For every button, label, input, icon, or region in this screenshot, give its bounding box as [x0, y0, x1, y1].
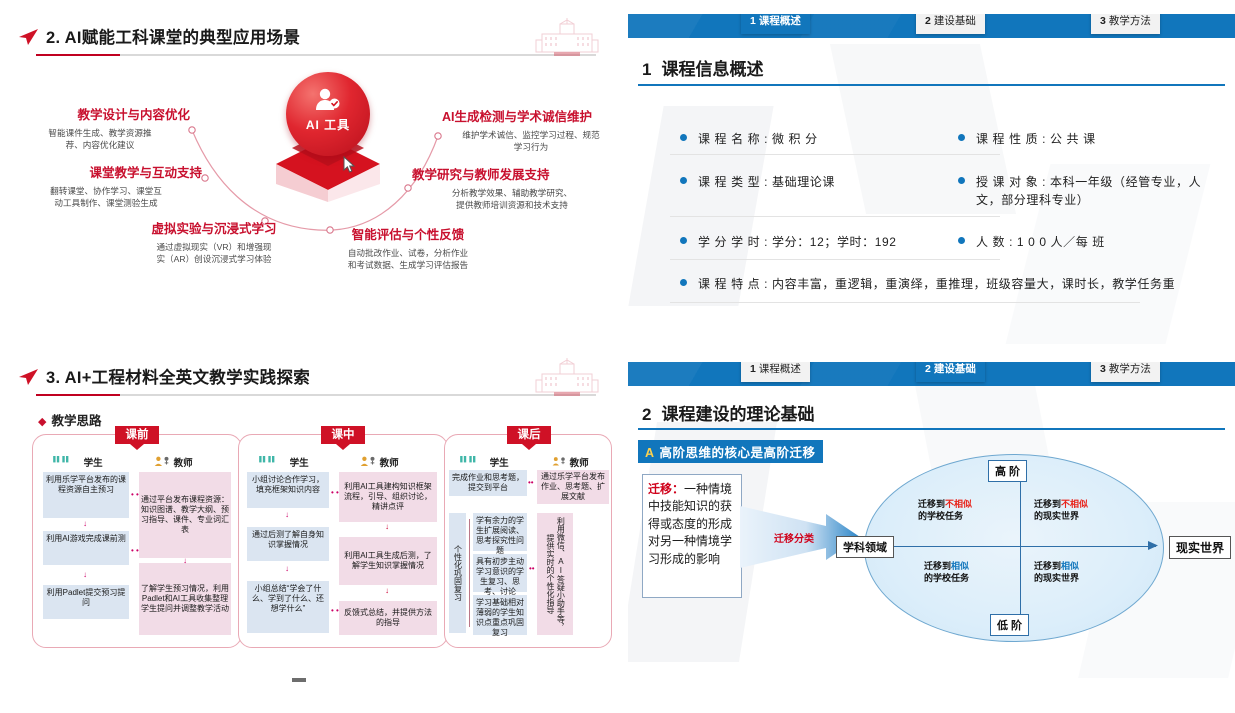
- quadrant-label-1: 迁移到不相似 的学校任务: [918, 498, 972, 522]
- phase-tag-after: 课后: [507, 426, 551, 444]
- info-item-course-name: 课 程 名 称 : 微 积 分: [680, 130, 930, 148]
- scenario-node-2: 课堂教学与互动支持 翻转课堂、协作学习、课堂互 动工具制作、课堂测验生成: [10, 166, 202, 210]
- teacher-box-3-top: 通过乐学平台发布作业、思考题、扩展文献: [537, 470, 609, 504]
- scenario-node-4: 智能评估与个性反馈 自动批改作业、试卷，分析作业 和考试数据、生成学习评估报告: [310, 228, 506, 272]
- nav-tab-3[interactable]: 3教学方法: [1091, 14, 1160, 34]
- phase-tag-before: 课前: [115, 426, 159, 444]
- slide1-header: 2. AI赋能工科课堂的典型应用场景: [18, 24, 608, 58]
- link-dots-icon: • •: [331, 489, 339, 497]
- link-dots-icon: ••: [528, 479, 534, 487]
- teacher-box-1-2: 了解学生预习情况，利用Padlet和AI工具收集整理学生提问并调整教学活动: [139, 563, 231, 635]
- slide3-section-title: 1课程信息概述: [642, 55, 763, 80]
- scenario-node-6: AI生成检测与学术诚信维护 维护学术诚信、监控学习过程、规范 学习行为: [442, 110, 620, 154]
- scenario-node-1-title: 教学设计与内容优化: [10, 108, 190, 124]
- axis-label-high: 高 阶: [988, 460, 1027, 482]
- student-box-3-2: 具有初步主动学习意识的学生复习、思考、讨论: [473, 554, 527, 592]
- student-box-2-1: 小组讨论合作学习，填充框架知识内容: [247, 472, 329, 508]
- horizontal-axis: [894, 546, 1156, 547]
- teacher-box-2-2: 利用AI工具生成后测，了解学生知识掌握情况: [339, 537, 437, 585]
- title-underline: [36, 54, 596, 56]
- ai-tool-pedestal: AI 工具: [268, 72, 388, 202]
- row-separator: [670, 259, 1000, 260]
- down-arrow-icon: ↓: [83, 520, 87, 528]
- bullet-dot-icon: [958, 177, 965, 184]
- teacher-column-header-2: 教师: [359, 455, 399, 469]
- slide-ai-engineering-practice: 3. AI+工程材料全英文教学实践探索: [0, 342, 620, 713]
- scenario-node-6-desc: 维护学术诚信、监控学习过程、规范 学习行为: [442, 129, 620, 154]
- classification-arrow-label: 迁移分类: [774, 530, 814, 545]
- scenario-node-6-title: AI生成检测与学术诚信维护: [442, 110, 620, 126]
- scenario-node-1-desc: 智能课件生成、教学资源推 荐、内容优化建议: [10, 127, 190, 152]
- scenario-node-3-title: 虚拟实验与沉浸式学习: [112, 222, 316, 238]
- scenario-node-2-title: 课堂教学与互动支持: [10, 166, 202, 182]
- student-box-3-1: 学有余力的学生扩展阅读、思考探究性问题: [473, 513, 527, 551]
- axis-label-real-world: 现实世界: [1169, 536, 1231, 559]
- link-dots-icon: ••: [529, 565, 535, 573]
- slide2-title: 3. AI+工程材料全英文教学实践探索: [46, 364, 310, 388]
- down-arrow-icon: ↓: [285, 511, 289, 519]
- scenario-node-1: 教学设计与内容优化 智能课件生成、教学资源推 荐、内容优化建议: [10, 108, 190, 152]
- scenario-node-5-desc: 分析教学效果、辅助教学研究、 提供教师培训资源和技术支持: [412, 187, 612, 212]
- axis-label-discipline: 学科领域: [836, 536, 894, 558]
- bracket-line: [469, 519, 470, 627]
- page-scroll-indicator: [292, 678, 306, 682]
- flag-marker-icon: [18, 28, 40, 46]
- down-arrow-icon: ↓: [385, 523, 389, 531]
- teacher-box-3-1: 利用微信、AI答疑小助手等，提供实时的个性化指导: [537, 513, 573, 635]
- slide1-title: 2. AI赋能工科课堂的典型应用场景: [46, 24, 300, 48]
- axis-arrow-right-icon: [1148, 540, 1160, 552]
- student-column-header-2: 学生: [257, 455, 309, 469]
- info-item-course-nature: 课 程 性 质 : 公 共 课: [958, 130, 1208, 148]
- scenario-fan-diagram: AI 工具 教学设计与内容优化 智能课件生成、教学资源推 荐、内容优化建议 课堂…: [0, 58, 620, 308]
- info-item-class-size: 人 数 : 1 0 0 人／每 班: [958, 233, 1208, 251]
- phase-panel-during-class: 课中 学生 教师 小组讨论合作学习，填充框架知识内容 通过后测了解自身知识掌握情…: [238, 434, 448, 648]
- slide4-section-title: 2课程建设的理论基础: [642, 400, 814, 425]
- student-box-1-1: 利用乐学平台发布的课程资源自主预习: [43, 472, 129, 518]
- student-box-2-2: 通过后测了解自身知识掌握情况: [247, 527, 329, 561]
- mouse-cursor-icon: [343, 156, 356, 174]
- student-box-3-top: 完成作业和思考题，提交到平台: [449, 470, 527, 496]
- scenario-node-5: 教学研究与教师发展支持 分析教学效果、辅助教学研究、 提供教师培训资源和技术支持: [412, 168, 612, 212]
- teacher-box-2-1: 利用AI工具建构知识框架流程，引导、组织讨论，精讲点评: [339, 472, 437, 522]
- university-building-logo-icon: [534, 358, 600, 398]
- diamond-bullet-icon: ◆: [38, 416, 46, 428]
- phase-panel-before-class: 课前 学生 教师 利用乐学平台发布的课程资源自主预习 利用AI游戏完成课前测 利…: [32, 434, 242, 648]
- down-arrow-icon: ↓: [285, 565, 289, 573]
- transfer-definition-box: 迁移：一种情境中技能知识的获得或态度的形成对另一种情境学习形成的影响: [642, 474, 742, 598]
- student-column-header-1: 学生: [51, 455, 103, 469]
- teacher-box-2-3: 反馈式总结，并提供方法的指导: [339, 601, 437, 635]
- info-item-course-features: 课 程 特 点 : 内容丰富，重逻辑，重演绎，重推理，班级容量大，课时长，教学任…: [680, 275, 1220, 293]
- phase-panel-after-class: 课后 学生 教师 完成作业和思考题，提交到平台 通过乐学平台发布作业、思考题、扩…: [444, 434, 612, 648]
- row-separator: [670, 302, 1140, 303]
- ai-tool-label: AI 工具: [286, 116, 370, 133]
- student-box-1-3: 利用Padlet提交预习提问: [43, 585, 129, 619]
- scenario-node-4-title: 智能评估与个性反馈: [310, 228, 506, 244]
- slide-course-overview: 1课程概述 2建设基础 3教学方法 1课程信息概述 课 程 名 称 : 微 积 …: [628, 14, 1235, 354]
- flag-marker-icon: [18, 368, 40, 386]
- teacher-column-header-3: 教师: [551, 455, 589, 469]
- link-dots-icon: • •: [131, 547, 139, 555]
- down-arrow-icon: ↓: [83, 571, 87, 579]
- students-icon: [51, 456, 81, 467]
- teaching-approach-subtitle: ◆教学思路: [38, 410, 101, 429]
- quadrant-label-3: 迁移到相似 的学校任务: [924, 560, 969, 584]
- teacher-icon: [359, 456, 377, 467]
- person-check-icon: [315, 87, 341, 111]
- bullet-dot-icon: [958, 134, 965, 141]
- student-box-1-2: 利用AI游戏完成课前测: [43, 531, 129, 565]
- down-arrow-icon: ↓: [183, 557, 187, 565]
- screenshot-page: 2. AI赋能工科课堂的典型应用场景: [0, 0, 1235, 713]
- slide-ai-scenarios: 2. AI赋能工科课堂的典型应用场景: [0, 0, 620, 340]
- slide3-title-rule: [638, 84, 1225, 86]
- subsection-tag: A高阶思维的核心是高阶迁移: [638, 440, 823, 463]
- students-icon: [459, 456, 487, 467]
- bullet-dot-icon: [958, 237, 965, 244]
- axis-label-low: 低 阶: [990, 614, 1029, 636]
- teacher-icon: [153, 456, 171, 467]
- nav-tab-1[interactable]: 1课程概述: [741, 14, 810, 34]
- slide2-header: 3. AI+工程材料全英文教学实践探索: [18, 364, 608, 398]
- row-separator: [670, 216, 1000, 217]
- student-box-3-3: 学习基础相对薄弱的学生知识点重点巩固复习: [473, 595, 527, 635]
- scenario-node-2-desc: 翻转课堂、协作学习、课堂互 动工具制作、课堂测验生成: [10, 185, 202, 210]
- bullet-dot-icon: [680, 177, 687, 184]
- teacher-box-1-1: 通过平台发布课程资源：知识图谱、教学大纲、预习指导、课件、专业词汇表: [139, 472, 231, 558]
- vertical-axis: [1020, 474, 1021, 622]
- slide-theory-basis: 1课程概述 2建设基础 3教学方法 2课程建设的理论基础 A高阶思维的核心是高阶…: [628, 362, 1235, 678]
- title-underline: [36, 394, 596, 396]
- bullet-dot-icon: [680, 279, 687, 286]
- subsection-letter: A: [645, 446, 655, 460]
- student-box-2-3: 小组总结“学会了什么、学到了什么、还想学什么”: [247, 581, 329, 633]
- phase-tag-during: 课中: [321, 426, 365, 444]
- down-arrow-icon: ↓: [385, 587, 389, 595]
- link-dots-icon: • •: [131, 491, 139, 499]
- scenario-node-5-title: 教学研究与教师发展支持: [412, 168, 612, 184]
- teacher-column-header-1: 教师: [153, 455, 193, 469]
- bullet-dot-icon: [680, 134, 687, 141]
- scenario-node-4-desc: 自动批改作业、试卷，分析作业 和考试数据、生成学习评估报告: [310, 247, 506, 272]
- review-side-label: 个性化巩固复习: [449, 513, 466, 633]
- scenario-node-3: 虚拟实验与沉浸式学习 通过虚拟现实（VR）和增强现 实（AR）创设沉浸式学习体验: [112, 222, 316, 266]
- university-building-logo-icon: [534, 18, 600, 58]
- nav-tab-3[interactable]: 3教学方法: [1091, 362, 1160, 382]
- scenario-node-3-desc: 通过虚拟现实（VR）和增强现 实（AR）创设沉浸式学习体验: [112, 241, 316, 266]
- info-item-audience: 授 课 对 象 : 本科一年级（经管专业，人文，部分理科专业）: [958, 173, 1218, 209]
- students-icon: [257, 456, 287, 467]
- ai-tool-sphere: AI 工具: [286, 72, 370, 156]
- nav-tab-2[interactable]: 2建设基础: [916, 362, 985, 382]
- bullet-dot-icon: [680, 237, 687, 244]
- nav-tab-2[interactable]: 2建设基础: [916, 14, 985, 34]
- nav-tab-1[interactable]: 1课程概述: [741, 362, 810, 382]
- quadrant-label-2: 迁移到不相似 的现实世界: [1034, 498, 1088, 522]
- quadrant-label-4: 迁移到相似 的现实世界: [1034, 560, 1079, 584]
- teacher-icon: [551, 456, 567, 467]
- definition-lead: 迁移：: [648, 482, 684, 496]
- slide4-title-rule: [638, 428, 1225, 430]
- info-item-course-type: 课 程 类 型 : 基础理论课: [680, 173, 930, 191]
- student-column-header-3: 学生: [459, 455, 509, 469]
- row-separator: [670, 154, 1000, 155]
- link-dots-icon: • •: [331, 607, 339, 615]
- info-item-credits-hours: 学 分 学 时 : 学分：12；学时：192: [680, 233, 940, 251]
